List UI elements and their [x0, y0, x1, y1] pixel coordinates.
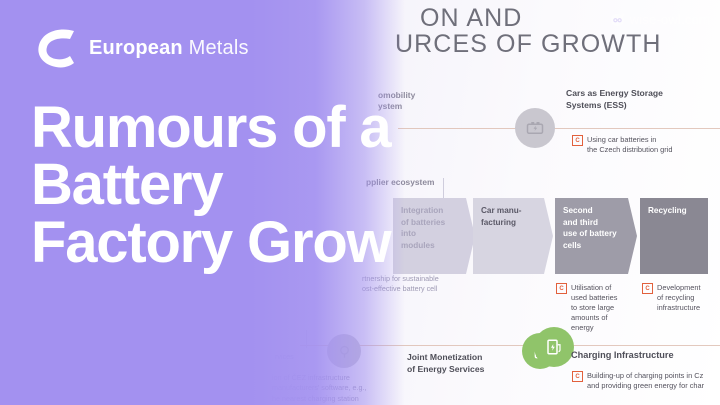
charging-station-icon: [545, 338, 563, 356]
slide-title-line-2: URCES OF GROWTH: [395, 30, 662, 59]
bullet-text: Utilisation of used batteries to store l…: [571, 283, 617, 333]
bullet-text: Using car batteries in the Czech distrib…: [587, 135, 672, 155]
bullet-ess-1: C Using car batteries in the Czech distr…: [572, 135, 712, 155]
section-heading-charging: Charging Infrastructure: [571, 349, 674, 361]
charging-station-icon-circle: [534, 327, 574, 367]
headline-line-3: Factory Grow: [31, 214, 501, 271]
bullet-text: Building-up of charging points in Cz and…: [587, 371, 704, 391]
bullet-chain-1: C Utilisation of used batteries to store…: [556, 283, 634, 333]
brand-name: European Metals: [89, 37, 249, 60]
bullet-text: Development of recycling infrastructure: [657, 283, 701, 313]
cez-logo-icon: C: [572, 135, 583, 146]
site-watermark: wise-owl.com: [609, 11, 710, 28]
slide-title-line-1: ON AND: [420, 4, 522, 33]
cez-logo-icon: C: [572, 371, 583, 382]
process-step-second-life: Second and third use of battery cells: [555, 198, 637, 274]
brand-name-light: Metals: [189, 37, 249, 59]
headline-line-1: Rumours of a: [31, 99, 501, 156]
bullet-chain-2: C Development of recycling infrastructur…: [642, 283, 718, 313]
section-heading-ess: Cars as Energy Storage Systems (ESS): [566, 88, 663, 111]
owl-icon: [609, 11, 626, 28]
watermark-label: wise-owl.com: [630, 12, 710, 27]
battery-icon-circle: [515, 108, 555, 148]
european-metals-c-ribbon-logo-icon: [30, 22, 82, 74]
cez-logo-icon: C: [642, 283, 653, 294]
cez-logo-icon: C: [556, 283, 567, 294]
headline-line-2: Battery: [31, 156, 501, 213]
bullet-charging-1: C Building-up of charging points in Cz a…: [572, 371, 720, 391]
page-title: Rumours of a Battery Factory Grow: [31, 99, 501, 271]
video-thumbnail: ON AND URCES OF GROWTH omobility ystem p…: [0, 0, 720, 405]
brand-name-bold: European: [89, 37, 183, 59]
brand-logo: European Metals: [30, 22, 249, 74]
battery-icon: [526, 119, 544, 137]
process-step-recycling: Recycling: [640, 198, 708, 274]
section-heading-monetization: Joint Monetization of Energy Services: [407, 352, 484, 375]
